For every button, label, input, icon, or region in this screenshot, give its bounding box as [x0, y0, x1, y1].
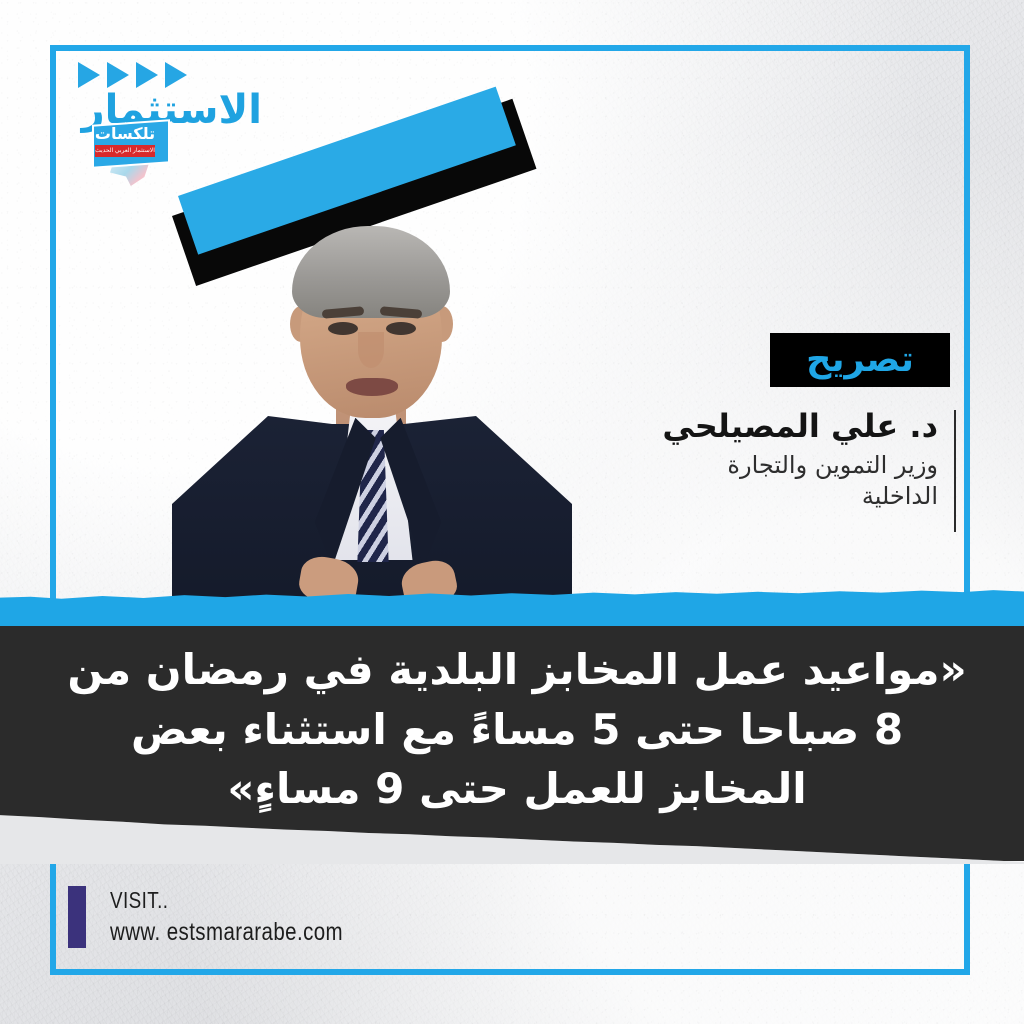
portrait-hair: [292, 226, 450, 318]
secondary-logo-word: تلكسات: [88, 126, 162, 142]
play-arrow-icon: [165, 62, 187, 88]
visit-label: VISIT..: [110, 886, 343, 915]
play-arrow-icon: [136, 62, 158, 88]
torn-blue-band: [0, 600, 1024, 628]
play-arrow-icon: [107, 62, 129, 88]
secondary-logo[interactable]: تلكسات الاستثمار العربي الحديث: [88, 124, 174, 188]
speaker-portrait-photo: [150, 180, 580, 610]
play-arrow-icon: [78, 62, 100, 88]
secondary-logo-subtitle: الاستثمار العربي الحديث: [95, 145, 155, 157]
visit-text: VISIT.. www. estsmararabe.com: [110, 886, 394, 947]
speaker-title-line-2: الداخلية: [588, 481, 938, 512]
speaker-title-line-1: وزير التموين والتجارة: [588, 450, 938, 481]
speaker-divider-line: [954, 410, 956, 532]
brand-logo[interactable]: الاستثمار تلكسات الاستثمار العربي الحديث: [72, 62, 262, 192]
portrait-nose: [358, 332, 384, 368]
portrait-eye-right: [386, 322, 416, 335]
headline-quote: «مواعيد عمل المخابز البلدية في رمضان من …: [60, 640, 974, 819]
visit-accent-bar: [68, 886, 86, 948]
speaker-name: د. علي المصيلحي: [588, 408, 938, 446]
statement-badge: تصريح: [770, 333, 950, 387]
poster-canvas: الاستثمار تلكسات الاستثمار العربي الحديث: [0, 0, 1024, 1024]
visit-block[interactable]: VISIT.. www. estsmararabe.com: [68, 886, 394, 948]
speaker-info-block: د. علي المصيلحي وزير التموين والتجارة ال…: [588, 408, 938, 512]
arrow-row-icon: [78, 62, 262, 88]
portrait-eye-left: [328, 322, 358, 335]
statement-badge-label: تصريح: [806, 343, 914, 378]
portrait-mouth: [346, 378, 398, 396]
visit-url[interactable]: www. estsmararabe.com: [110, 916, 343, 948]
